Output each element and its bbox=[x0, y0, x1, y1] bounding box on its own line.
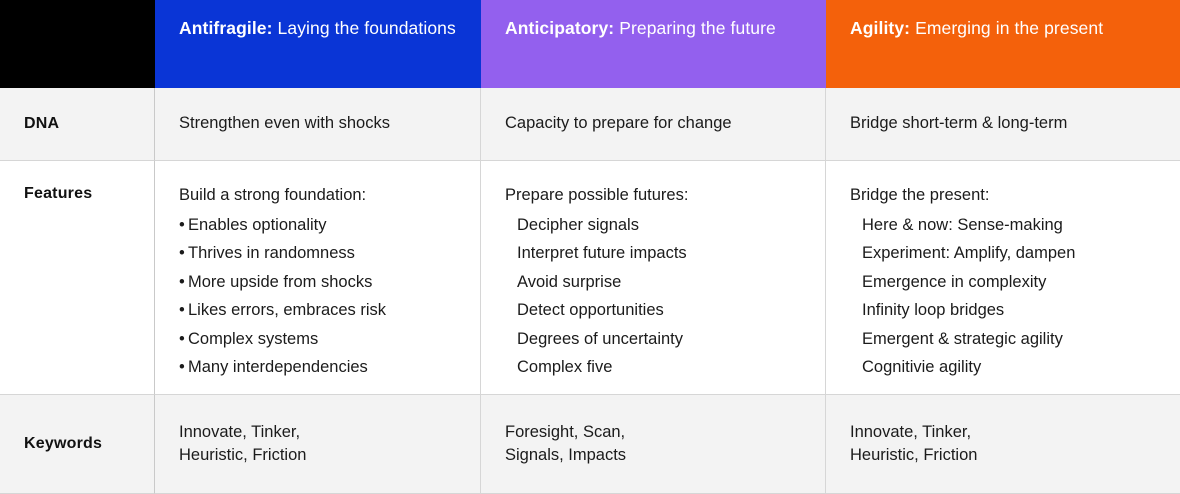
header-antifragile: Antifragile: Laying the foundations bbox=[155, 0, 481, 88]
feature-item-label: Avoid surprise bbox=[517, 273, 621, 291]
feature-item-label: Complex five bbox=[517, 358, 612, 376]
features-anticipatory-list: Decipher signalsInterpret future impacts… bbox=[505, 211, 807, 381]
feature-item: Experiment: Amplify, dampen bbox=[850, 239, 1162, 267]
feature-item-label: Interpret future impacts bbox=[517, 244, 687, 262]
bullet-icon: • bbox=[179, 239, 188, 267]
cell-dna-anticipatory: Capacity to prepare for change bbox=[481, 88, 826, 161]
row-label-features: Features bbox=[0, 161, 155, 395]
header-agility-rest: Emerging in the present bbox=[910, 18, 1103, 38]
cell-features-antifragile: Build a strong foundation: •Enables opti… bbox=[155, 161, 481, 395]
row-label-keywords: Keywords bbox=[0, 395, 155, 494]
feature-item-label: Thrives in randomness bbox=[188, 244, 355, 262]
feature-item-label: Detect opportunities bbox=[517, 301, 664, 319]
feature-item-label: Emergence in complexity bbox=[862, 273, 1046, 291]
header-anticipatory: Anticipatory: Preparing the future bbox=[481, 0, 826, 88]
feature-item: Interpret future impacts bbox=[505, 239, 807, 267]
bullet-icon: • bbox=[179, 325, 188, 353]
cell-features-agility: Bridge the present: Here & now: Sense-ma… bbox=[826, 161, 1180, 395]
features-antifragile-list: •Enables optionality•Thrives in randomne… bbox=[179, 211, 462, 381]
feature-item: Complex five bbox=[505, 353, 807, 381]
row-label-dna-text: DNA bbox=[24, 115, 59, 133]
feature-item-label: Degrees of uncertainty bbox=[517, 330, 683, 348]
feature-item-label: Likes errors, embraces risk bbox=[188, 301, 386, 319]
cell-dna-agility-text: Bridge short-term & long-term bbox=[826, 113, 1089, 135]
bullet-icon: • bbox=[179, 211, 188, 239]
feature-item: Infinity loop bridges bbox=[850, 296, 1162, 324]
cell-keywords-agility-text: Innovate, Tinker, Heuristic, Friction bbox=[826, 421, 995, 468]
feature-item: •More upside from shocks bbox=[179, 268, 462, 296]
feature-item: Decipher signals bbox=[505, 211, 807, 239]
cell-dna-antifragile-text: Strengthen even with shocks bbox=[155, 113, 412, 135]
cell-features-anticipatory: Prepare possible futures: Decipher signa… bbox=[481, 161, 826, 395]
cell-keywords-anticipatory: Foresight, Scan, Signals, Impacts bbox=[481, 395, 826, 494]
cell-keywords-anticipatory-text: Foresight, Scan, Signals, Impacts bbox=[481, 421, 644, 468]
feature-item: Here & now: Sense-making bbox=[850, 211, 1162, 239]
header-corner-cell bbox=[0, 0, 155, 88]
feature-item: Avoid surprise bbox=[505, 268, 807, 296]
cell-dna-agility: Bridge short-term & long-term bbox=[826, 88, 1180, 161]
bullet-icon: • bbox=[179, 268, 188, 296]
header-agility-lead: Agility: bbox=[850, 18, 910, 38]
feature-item-label: Many interdependencies bbox=[188, 358, 368, 376]
feature-item: Emergence in complexity bbox=[850, 268, 1162, 296]
features-agility-list: Here & now: Sense-makingExperiment: Ampl… bbox=[850, 211, 1162, 381]
feature-item: Degrees of uncertainty bbox=[505, 325, 807, 353]
feature-item-label: More upside from shocks bbox=[188, 273, 372, 291]
feature-item: •Likes errors, embraces risk bbox=[179, 296, 462, 324]
feature-item: Detect opportunities bbox=[505, 296, 807, 324]
feature-item: •Many interdependencies bbox=[179, 353, 462, 381]
cell-keywords-antifragile-text: Innovate, Tinker, Heuristic, Friction bbox=[155, 421, 324, 468]
header-anticipatory-rest: Preparing the future bbox=[614, 18, 776, 38]
feature-item-label: Cognitivie agility bbox=[862, 358, 981, 376]
bullet-icon: • bbox=[179, 353, 188, 381]
comparison-table: Antifragile: Laying the foundations Anti… bbox=[0, 0, 1180, 494]
header-antifragile-rest: Laying the foundations bbox=[273, 18, 456, 38]
cell-keywords-antifragile: Innovate, Tinker, Heuristic, Friction bbox=[155, 395, 481, 494]
cell-dna-anticipatory-text: Capacity to prepare for change bbox=[481, 113, 754, 135]
feature-item-label: Experiment: Amplify, dampen bbox=[862, 244, 1075, 262]
features-antifragile-heading: Build a strong foundation: bbox=[179, 185, 462, 206]
row-label-features-text: Features bbox=[24, 185, 92, 202]
header-antifragile-lead: Antifragile: bbox=[179, 18, 273, 38]
row-label-keywords-text: Keywords bbox=[24, 435, 102, 453]
feature-item: •Complex systems bbox=[179, 325, 462, 353]
features-agility-heading: Bridge the present: bbox=[850, 185, 1162, 206]
row-label-dna: DNA bbox=[0, 88, 155, 161]
feature-item-label: Infinity loop bridges bbox=[862, 301, 1004, 319]
features-anticipatory-heading: Prepare possible futures: bbox=[505, 185, 807, 206]
bullet-icon: • bbox=[179, 296, 188, 324]
feature-item: •Enables optionality bbox=[179, 211, 462, 239]
feature-item-label: Emergent & strategic agility bbox=[862, 330, 1063, 348]
feature-item-label: Decipher signals bbox=[517, 216, 639, 234]
feature-item: Emergent & strategic agility bbox=[850, 325, 1162, 353]
feature-item-label: Here & now: Sense-making bbox=[862, 216, 1063, 234]
header-agility: Agility: Emerging in the present bbox=[826, 0, 1180, 88]
feature-item: Cognitivie agility bbox=[850, 353, 1162, 381]
header-anticipatory-lead: Anticipatory: bbox=[505, 18, 614, 38]
feature-item: •Thrives in randomness bbox=[179, 239, 462, 267]
cell-dna-antifragile: Strengthen even with shocks bbox=[155, 88, 481, 161]
feature-item-label: Complex systems bbox=[188, 330, 318, 348]
cell-keywords-agility: Innovate, Tinker, Heuristic, Friction bbox=[826, 395, 1180, 494]
feature-item-label: Enables optionality bbox=[188, 216, 327, 234]
